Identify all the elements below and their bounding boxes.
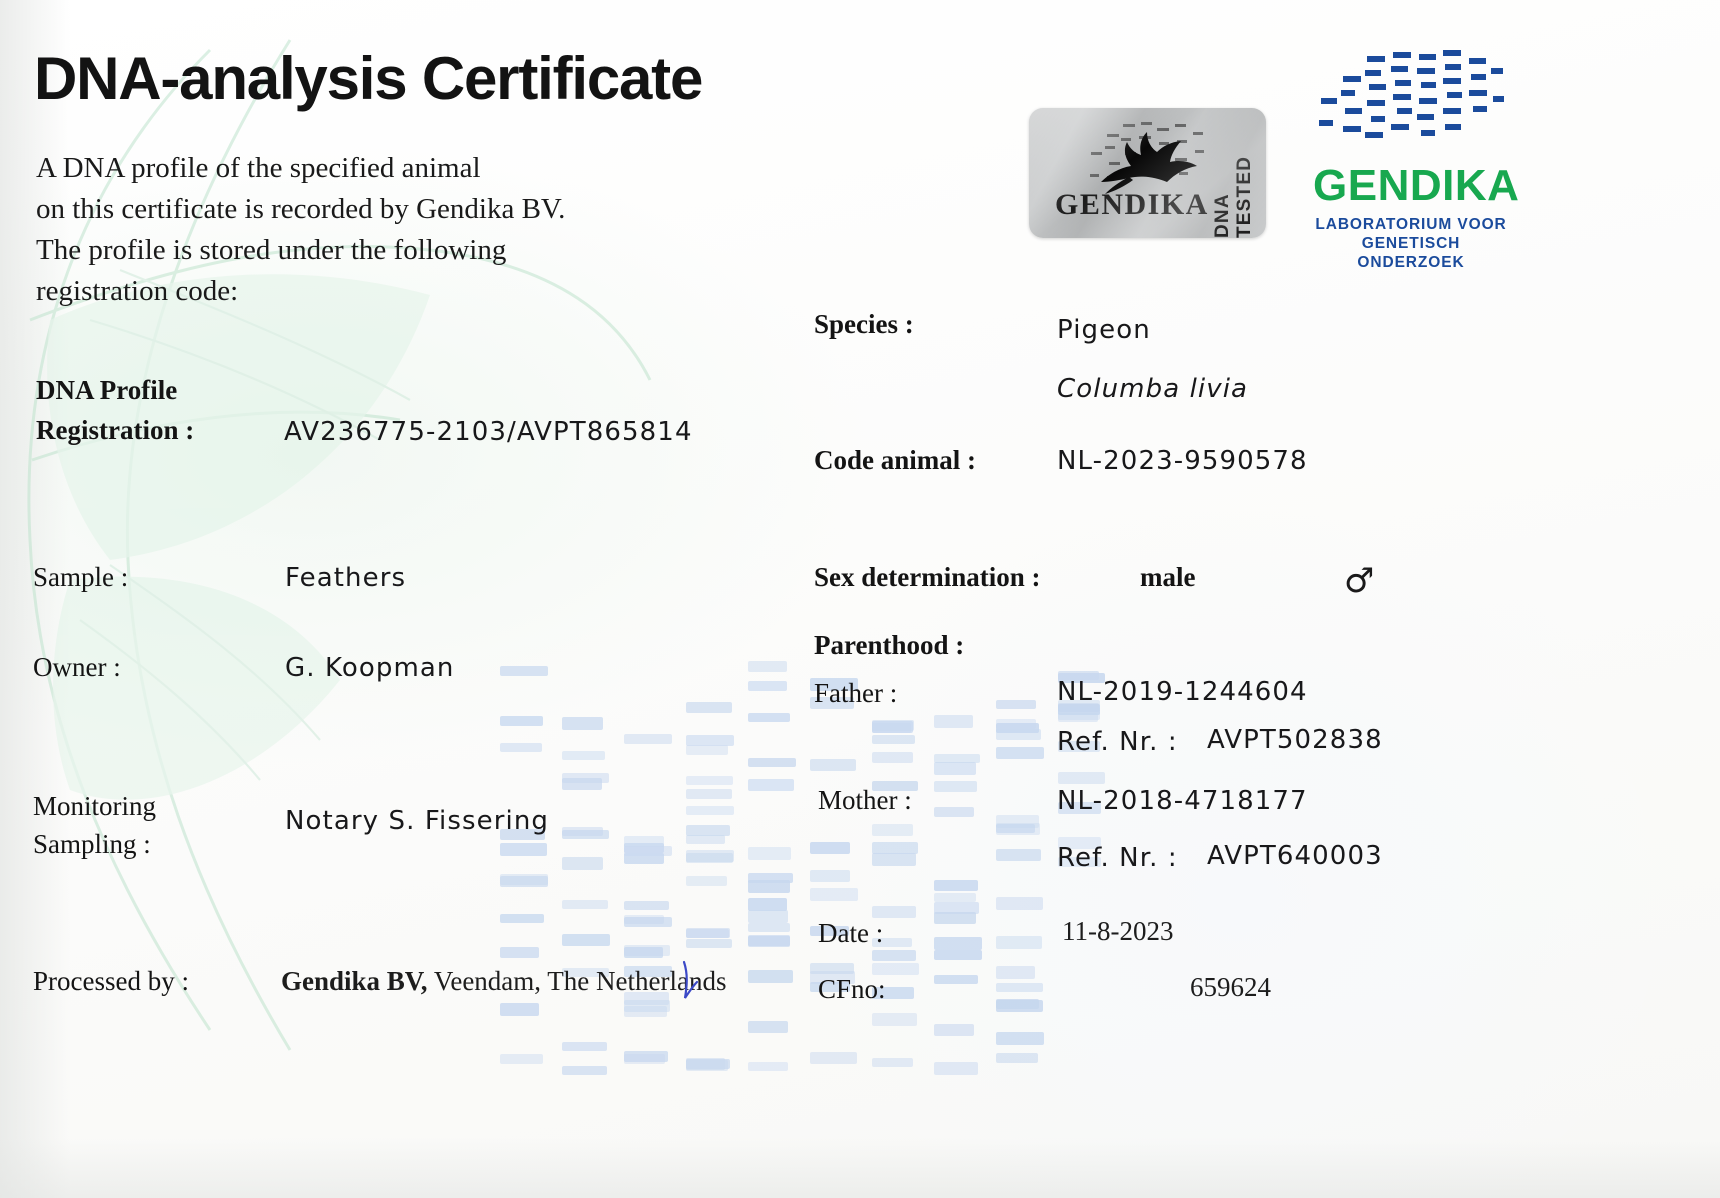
monitoring-label-line-2: Sampling :	[33, 829, 151, 860]
intro-line-4: registration code:	[36, 271, 676, 312]
sticker-gloss-overlay	[1029, 108, 1266, 238]
male-symbol-icon: ♂	[1344, 561, 1374, 601]
mother-label: Mother :	[818, 785, 912, 816]
sex-determination-label: Sex determination :	[814, 562, 1040, 593]
species-label: Species :	[814, 309, 914, 340]
father-ref-value: AVPT502838	[1207, 725, 1383, 755]
dna-tested-hologram-sticker: GENDIKA DNA TESTED	[1029, 108, 1266, 238]
father-label: Father :	[814, 678, 897, 709]
processed-by-company: Gendika BV,	[281, 966, 428, 996]
owner-label: Owner :	[33, 652, 121, 683]
intro-line-2: on this certificate is recorded by Gendi…	[36, 189, 676, 230]
mother-ref-label: Ref. Nr. :	[1057, 843, 1178, 873]
species-scientific-name: Columba livia	[1057, 374, 1248, 404]
monitoring-label-line-1: Monitoring	[33, 791, 156, 822]
sample-value: Feathers	[285, 563, 406, 593]
monitoring-value: Notary S. Fissering	[285, 806, 549, 836]
processed-by-label: Processed by :	[33, 966, 189, 997]
brand-tagline-line-1: LABORATORIUM VOOR	[1313, 215, 1509, 234]
gendika-brand-logo: GENDIKA LABORATORIUM VOOR GENETISCH ONDE…	[1313, 46, 1509, 272]
intro-line-1: A DNA profile of the specified animal	[36, 148, 676, 189]
dna-gel-logo-icon	[1313, 46, 1509, 158]
intro-line-3: The profile is stored under the followin…	[36, 230, 676, 271]
brand-name-text: GENDIKA	[1313, 163, 1509, 209]
registration-label-line-1: DNA Profile	[36, 375, 177, 406]
brand-tagline: LABORATORIUM VOOR GENETISCH ONDERZOEK	[1313, 215, 1509, 272]
page-title: DNA-analysis Certificate	[34, 44, 702, 113]
code-animal-value: NL-2023-9590578	[1057, 446, 1308, 476]
species-common-name: Pigeon	[1057, 315, 1151, 345]
processed-by-value: Gendika BV, Veendam, The Netherlands	[281, 966, 726, 997]
mother-ref-value: AVPT640003	[1207, 841, 1383, 871]
brand-tagline-line-2: GENETISCH ONDERZOEK	[1313, 234, 1509, 272]
sample-label: Sample :	[33, 562, 128, 593]
code-animal-label: Code animal :	[814, 445, 976, 476]
sex-determination-value: male	[1140, 562, 1195, 593]
date-label: Date :	[818, 918, 883, 949]
dna-analysis-certificate: DNA-analysis Certificate A DNA profile o…	[0, 0, 1720, 1198]
registration-value: AV236775-2103/AVPT865814	[284, 417, 693, 447]
date-value: 11-8-2023	[1062, 916, 1173, 947]
owner-value: G. Koopman	[285, 653, 455, 683]
mother-value: NL-2018-4718177	[1057, 786, 1308, 816]
father-ref-label: Ref. Nr. :	[1057, 727, 1178, 757]
father-value: NL-2019-1244604	[1057, 677, 1308, 707]
pen-signature-mark	[676, 960, 702, 1006]
intro-paragraph: A DNA profile of the specified animal on…	[36, 148, 676, 312]
cfno-value: 659624	[1190, 972, 1271, 1003]
parenthood-label: Parenthood :	[814, 630, 964, 661]
registration-label-line-2: Registration :	[36, 415, 194, 446]
scan-shadow-bottom	[0, 1138, 1720, 1198]
cfno-label: CFno:	[818, 974, 886, 1005]
